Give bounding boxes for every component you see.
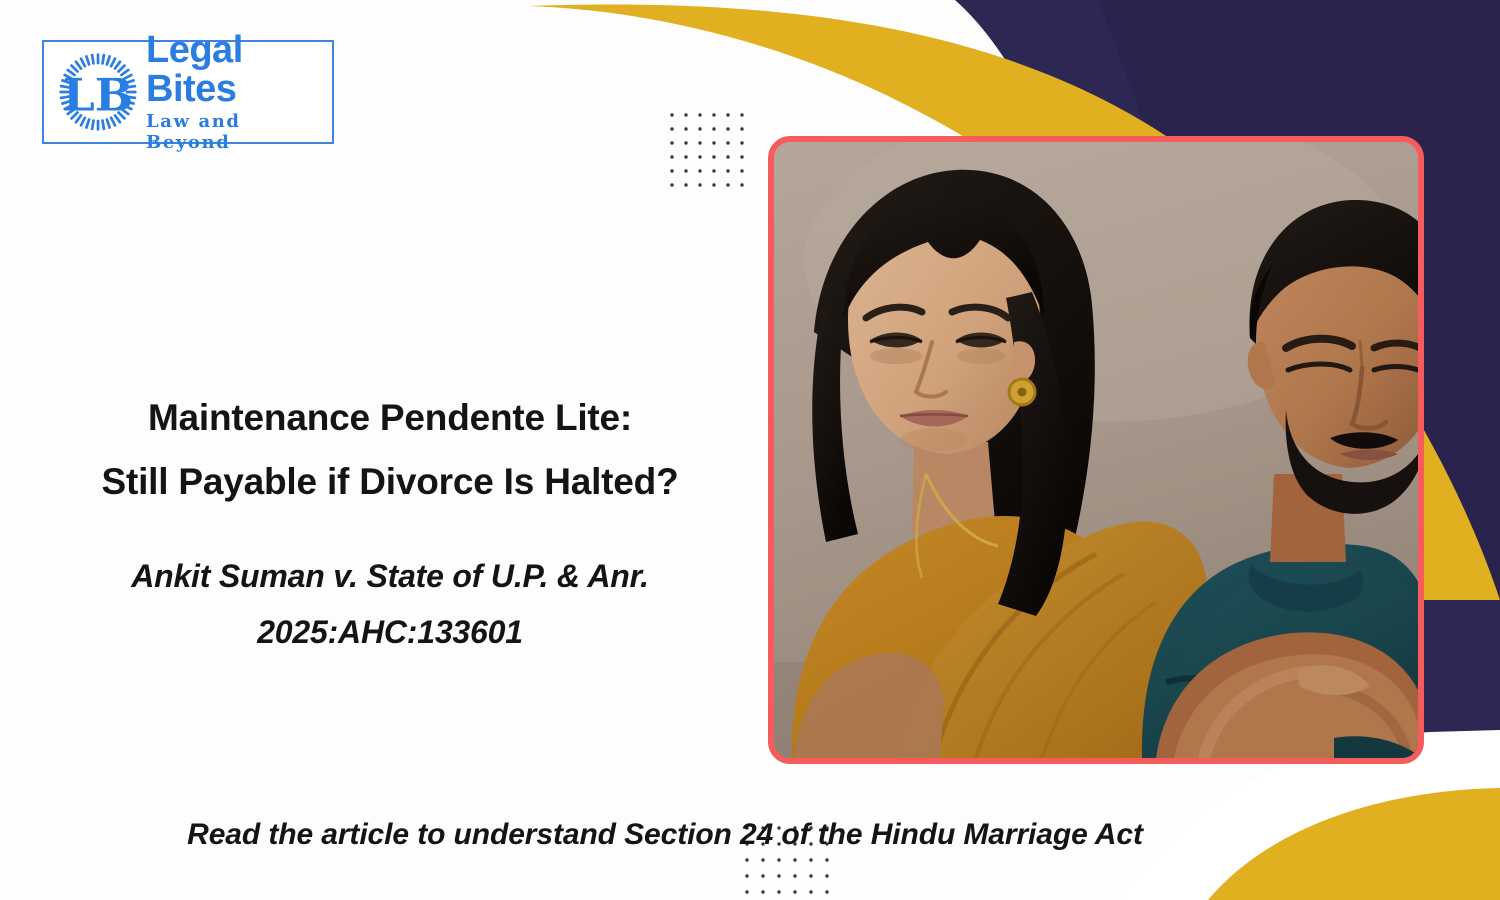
brand-name: Legal Bites [146, 31, 332, 109]
headline-line-1: Maintenance Pendente Lite: [40, 386, 740, 450]
brand-logo-text: Legal Bites Law and Beyond [146, 31, 332, 153]
footer-call-to-action: Read the article to understand Section 2… [0, 818, 1330, 852]
case-name: Ankit Suman v. State of U.P. & Anr. [40, 548, 740, 604]
brand-tagline: Law and Beyond [146, 111, 332, 153]
navy-shape-right-column [1424, 600, 1500, 770]
headline-block: Maintenance Pendente Lite: Still Payable… [40, 386, 740, 513]
dot-grid-top-icon [670, 113, 744, 187]
article-photo-card [768, 136, 1424, 764]
legal-bites-monogram-icon: LB [56, 50, 140, 134]
monogram-letters: LB [63, 67, 133, 121]
poster-canvas: LB Legal Bites Law and Beyond Maintenanc… [0, 0, 1500, 900]
headline-line-2: Still Payable if Divorce Is Halted? [40, 450, 740, 514]
neutral-citation: 2025:AHC:133601 [40, 604, 740, 660]
brand-logo[interactable]: LB Legal Bites Law and Beyond [42, 40, 334, 144]
case-citation-block: Ankit Suman v. State of U.P. & Anr. 2025… [40, 548, 740, 660]
couple-photo [774, 142, 1418, 758]
